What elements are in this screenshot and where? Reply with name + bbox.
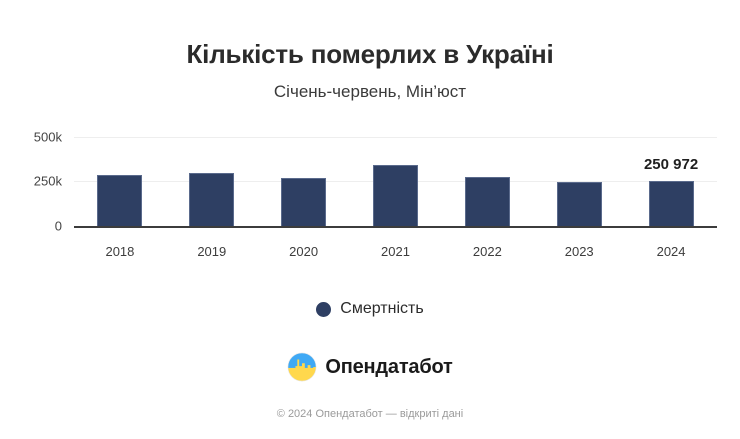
bar-value-label-2024: 250 972 bbox=[644, 156, 698, 173]
bar-2022[interactable] bbox=[465, 177, 510, 226]
bar-2024[interactable]: 250 972 bbox=[649, 181, 694, 226]
x-axis-labels: 2018201920202021202220232024 bbox=[74, 244, 717, 264]
bar-slot bbox=[557, 137, 602, 226]
footer-copyright: © 2024 Опендатабот — відкриті дані bbox=[0, 408, 740, 420]
bar-slot bbox=[97, 137, 142, 226]
axis-baseline bbox=[74, 226, 717, 228]
y-axis-tick-500k: 500k bbox=[34, 130, 62, 145]
brand-name: Опендатабот bbox=[325, 356, 452, 379]
y-axis-tick-0: 0 bbox=[55, 219, 62, 234]
bars-layer: 250 972 bbox=[74, 137, 717, 226]
x-axis-label-2024: 2024 bbox=[657, 244, 686, 259]
opendatabot-logo-icon bbox=[287, 352, 317, 382]
legend-label-mortality: Смертність bbox=[340, 300, 423, 318]
x-axis-label-2019: 2019 bbox=[197, 244, 226, 259]
bar-slot: 250 972 bbox=[649, 137, 694, 226]
plot-area: 500k 250k 0 250 972 bbox=[74, 137, 717, 226]
bar-2023[interactable] bbox=[557, 182, 602, 227]
bar-slot bbox=[281, 137, 326, 226]
chart-title: Кількість померлих в Україні bbox=[187, 40, 554, 70]
x-axis-label-2020: 2020 bbox=[289, 244, 318, 259]
chart-legend: Смертність bbox=[0, 300, 740, 318]
bar-slot bbox=[189, 137, 234, 226]
bar-2020[interactable] bbox=[281, 178, 326, 226]
bar-2021[interactable] bbox=[373, 165, 418, 226]
x-axis-label-2023: 2023 bbox=[565, 244, 594, 259]
bar-2018[interactable] bbox=[97, 175, 142, 226]
x-axis-label-2018: 2018 bbox=[105, 244, 134, 259]
chart-card: Кількість померлих в Україні Січень-черв… bbox=[0, 0, 740, 439]
x-axis-label-2022: 2022 bbox=[473, 244, 502, 259]
brand-row: Опендатабот bbox=[0, 352, 740, 382]
chart-subtitle: Січень-червень, Мін’юст bbox=[274, 82, 466, 102]
bar-2019[interactable] bbox=[189, 173, 234, 226]
bar-slot bbox=[465, 137, 510, 226]
x-axis-label-2021: 2021 bbox=[381, 244, 410, 259]
legend-color-swatch-mortality bbox=[316, 302, 331, 317]
bar-slot bbox=[373, 137, 418, 226]
y-axis-tick-250k: 250k bbox=[34, 174, 62, 189]
